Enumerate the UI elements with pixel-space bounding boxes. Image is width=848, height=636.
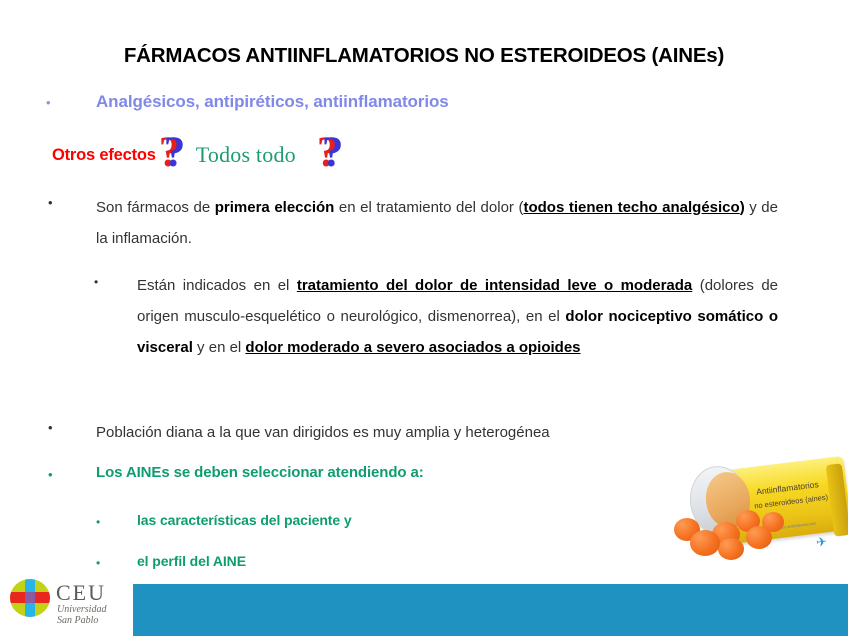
ceu-logo-subtitle: Universidad San Pablo (57, 604, 106, 626)
pill-capsule (746, 526, 772, 549)
bullet-marker-icon: • (96, 516, 100, 528)
todos-todo-label: Todos todo (196, 144, 296, 166)
brand-swoosh-icon: ✈ (815, 533, 835, 549)
ceu-logo-name: CEU (56, 580, 106, 606)
ceu-emblem-icon (10, 579, 50, 617)
bullet-marker-icon: • (94, 276, 98, 288)
ceu-logo-subtitle-line-2: San Pablo (57, 615, 106, 626)
text-seg-bold-underline: tratamiento del dolor de intensidad leve… (297, 277, 692, 294)
paragraph-estan-indicados: Están indicados en el tratamiento del do… (137, 270, 778, 363)
text-seg-bold-underline: todos tienen techo analgésico (523, 199, 739, 216)
pill-capsule (718, 538, 744, 560)
text-seg: en el tratamiento del dolor ( (334, 199, 523, 216)
footer-bar (133, 584, 848, 636)
bullet-marker-icon: • (48, 468, 53, 481)
text-seg-bold: primera elección (215, 199, 335, 216)
text-seg: Son fármacos de (96, 199, 215, 216)
question-mark-icon-1: ? ? (156, 132, 196, 178)
pill-bottle-image: Antiinflamatorios no esteroideos (aines)… (664, 448, 848, 584)
bullet-marker-icon: • (46, 92, 96, 109)
bullet-marker-icon: • (48, 421, 53, 434)
text-seg-bold-underline: dolor moderado a severo asociados a opio… (245, 339, 580, 356)
ceu-logo-subtitle-line-1: Universidad (57, 604, 106, 615)
paragraph-poblacion-diana: Población diana a la que van dirigidos e… (96, 417, 778, 448)
page-title: FÁRMACOS ANTIINFLAMATORIOS NO ESTEROIDEO… (0, 44, 848, 68)
ceu-emblem-center (25, 592, 35, 603)
bullet-analgesicos-label: Analgésicos, antipiréticos, antiinflamat… (96, 92, 746, 112)
bullet-marker-icon: • (48, 196, 53, 209)
text-seg: y en el (193, 339, 246, 356)
bullet-analgesicos: • Analgésicos, antipiréticos, antiinflam… (46, 92, 746, 112)
question-mark-blue-glyph: ? (164, 130, 186, 176)
ceu-logo: CEU Universidad San Pablo (8, 578, 130, 630)
otros-efectos-label: Otros efectos (52, 147, 156, 164)
bullet-marker-icon: • (96, 557, 100, 569)
text-seg: Están indicados en el (137, 277, 297, 294)
slide-canvas: FÁRMACOS ANTIINFLAMATORIOS NO ESTEROIDEO… (0, 0, 848, 636)
green-heading-label: Los AINEs se deben seleccionar atendiend… (96, 464, 424, 481)
question-band: Otros efectos ? ? Todos todo ? ? (52, 132, 354, 178)
pill-capsule (690, 530, 720, 556)
paragraph-primera-eleccion: Son fármacos de primera elección en el t… (96, 192, 778, 254)
green-item-caracteristicas: las características del paciente y (137, 512, 352, 528)
question-mark-icon-2: ? ? (314, 132, 354, 178)
question-mark-blue-glyph: ? (322, 130, 344, 176)
green-item-perfil: el perfil del AINE (137, 553, 246, 569)
